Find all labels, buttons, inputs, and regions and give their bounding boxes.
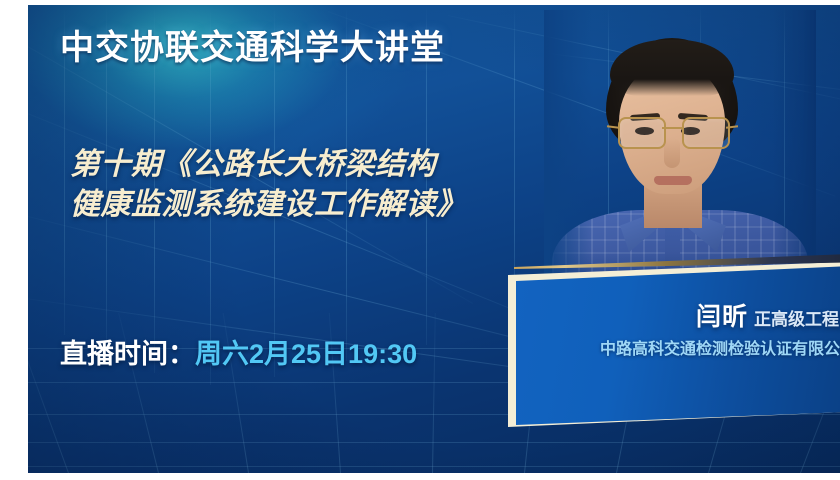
speaker-name: 闫昕 bbox=[696, 303, 748, 331]
mouth bbox=[654, 176, 692, 185]
hair-fringe bbox=[610, 40, 734, 96]
broadcast-time: 直播时间：周六2月25日19:30 bbox=[60, 332, 417, 371]
page-title: 中交协联交通科学大讲堂 bbox=[60, 31, 445, 67]
glasses-bridge bbox=[662, 127, 682, 129]
poster-stage: 中交协联交通科学大讲堂 第十期《公路长大桥梁结构 健康监测系统建设工作解读》 直… bbox=[28, 5, 840, 473]
live-stream-poster: 中交协联交通科学大讲堂 第十期《公路长大桥梁结构 健康监测系统建设工作解读》 直… bbox=[0, 0, 840, 480]
nose bbox=[664, 138, 680, 168]
speaker-organization: 中路高科交通检测检验认证有限公司 bbox=[508, 335, 840, 359]
session-subtitle-line-2: 健康监测系统建设工作解读》 bbox=[70, 185, 467, 225]
broadcast-time-label: 直播时间： bbox=[60, 339, 195, 369]
speaker-portrait-illustration bbox=[544, 10, 816, 298]
speaker-title: 正高级工程师 bbox=[754, 310, 840, 329]
speaker-photo bbox=[544, 10, 816, 298]
speaker-name-row: 闫昕正高级工程师 bbox=[508, 297, 840, 333]
glasses-lens-right bbox=[682, 117, 730, 149]
glasses-lens-left bbox=[618, 117, 666, 149]
broadcast-time-value: 周六2月25日19:30 bbox=[195, 339, 417, 369]
panel-content: 闫昕正高级工程师 中路高科交通检测检验认证有限公司 bbox=[508, 261, 840, 427]
session-subtitle: 第十期《公路长大桥梁结构 健康监测系统建设工作解读》 bbox=[70, 145, 467, 225]
session-subtitle-line-1: 第十期《公路长大桥梁结构 bbox=[70, 145, 467, 185]
speaker-info-panel: 闫昕正高级工程师 中路高科交通检测检验认证有限公司 bbox=[508, 261, 840, 441]
